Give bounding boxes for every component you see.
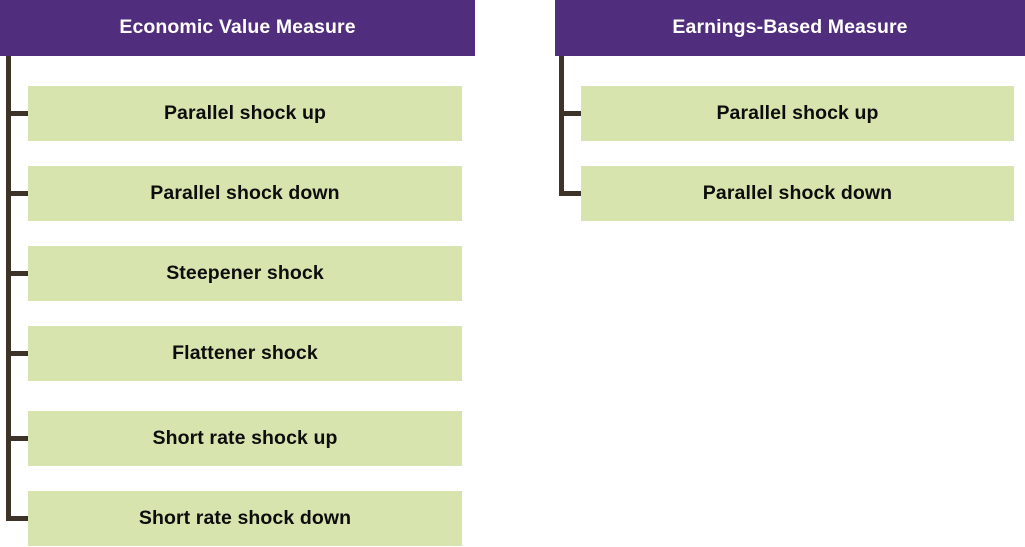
item-label: Steepener shock <box>166 264 324 284</box>
column-header-label: Earnings-Based Measure <box>672 18 907 38</box>
item-box-economic-flattener-shock[interactable]: Flattener shock <box>28 326 462 381</box>
column-header-economic-value-measure: Economic Value Measure <box>0 0 475 56</box>
diagram-canvas: Economic Value Measure Parallel shock up… <box>0 0 1025 547</box>
item-label: Short rate shock up <box>152 429 337 449</box>
item-label: Parallel shock down <box>703 184 892 204</box>
item-label: Parallel shock up <box>716 104 878 124</box>
item-box-economic-parallel-shock-down[interactable]: Parallel shock down <box>28 166 462 221</box>
connector-trunk-economic-value-measure <box>6 56 11 520</box>
item-box-economic-parallel-shock-up[interactable]: Parallel shock up <box>28 86 462 141</box>
item-label: Parallel shock up <box>164 104 326 124</box>
item-box-earnings-parallel-shock-up[interactable]: Parallel shock up <box>581 86 1014 141</box>
item-box-earnings-parallel-shock-down[interactable]: Parallel shock down <box>581 166 1014 221</box>
connector-trunk-earnings-based-measure <box>559 56 564 194</box>
item-box-economic-steepener-shock[interactable]: Steepener shock <box>28 246 462 301</box>
column-header-label: Economic Value Measure <box>119 18 355 38</box>
item-label: Flattener shock <box>172 344 318 364</box>
item-label: Short rate shock down <box>139 509 351 529</box>
item-box-economic-short-rate-shock-down[interactable]: Short rate shock down <box>28 491 462 546</box>
column-header-earnings-based-measure: Earnings-Based Measure <box>555 0 1025 56</box>
item-label: Parallel shock down <box>150 184 339 204</box>
item-box-economic-short-rate-shock-up[interactable]: Short rate shock up <box>28 411 462 466</box>
